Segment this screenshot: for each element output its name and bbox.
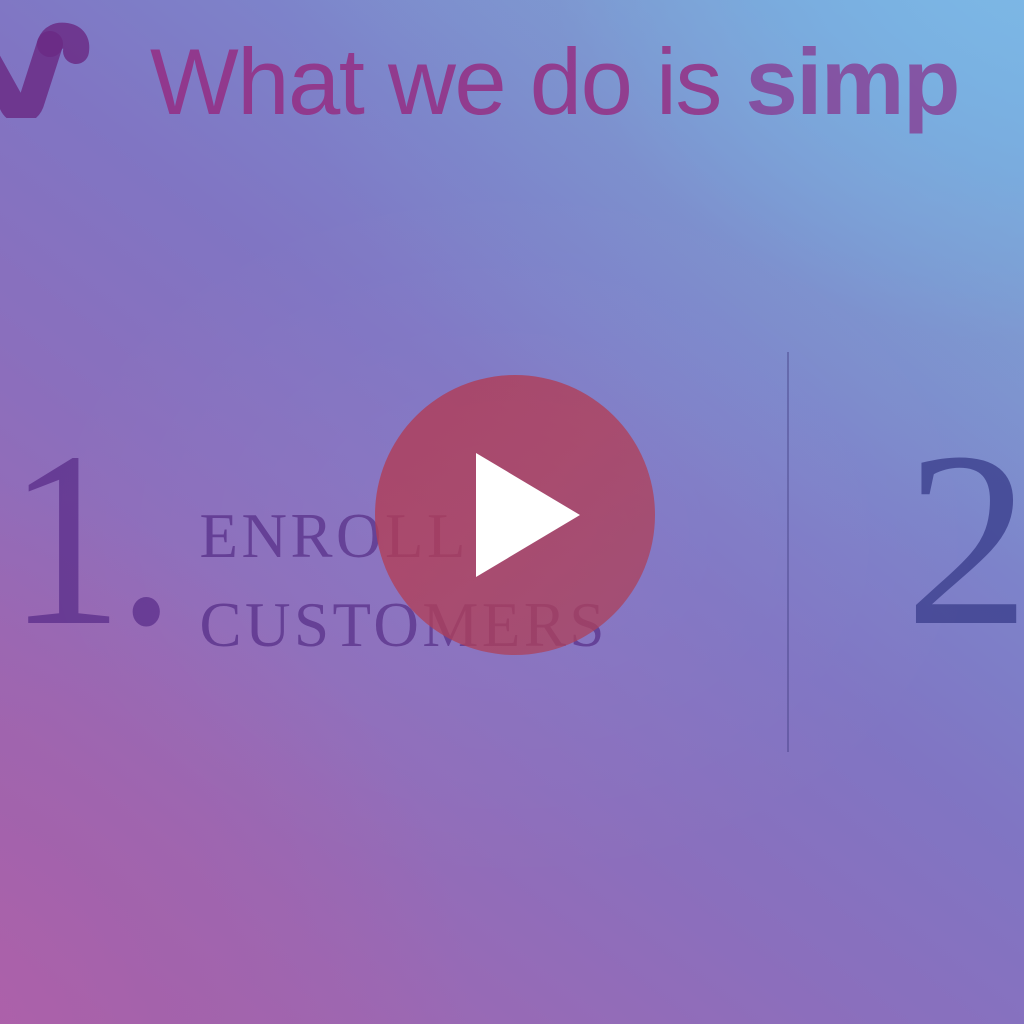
step-number-2: 2	[905, 401, 1024, 678]
step-item-2: 2	[905, 440, 1024, 640]
play-button[interactable]	[375, 375, 655, 655]
play-triangle-icon	[476, 453, 580, 577]
step-number-1: 1.	[8, 440, 169, 640]
video-frame: TER. What we do is simp 1. ENROLL CUSTOM…	[0, 0, 1024, 1024]
v-logo-icon	[0, 18, 104, 118]
page-title: What we do is simp	[150, 33, 959, 132]
step-divider	[787, 352, 789, 752]
headline-regular: What we do is	[150, 29, 745, 134]
headline-bold: simp	[745, 29, 958, 134]
brand-logo: TER.	[0, 18, 104, 126]
